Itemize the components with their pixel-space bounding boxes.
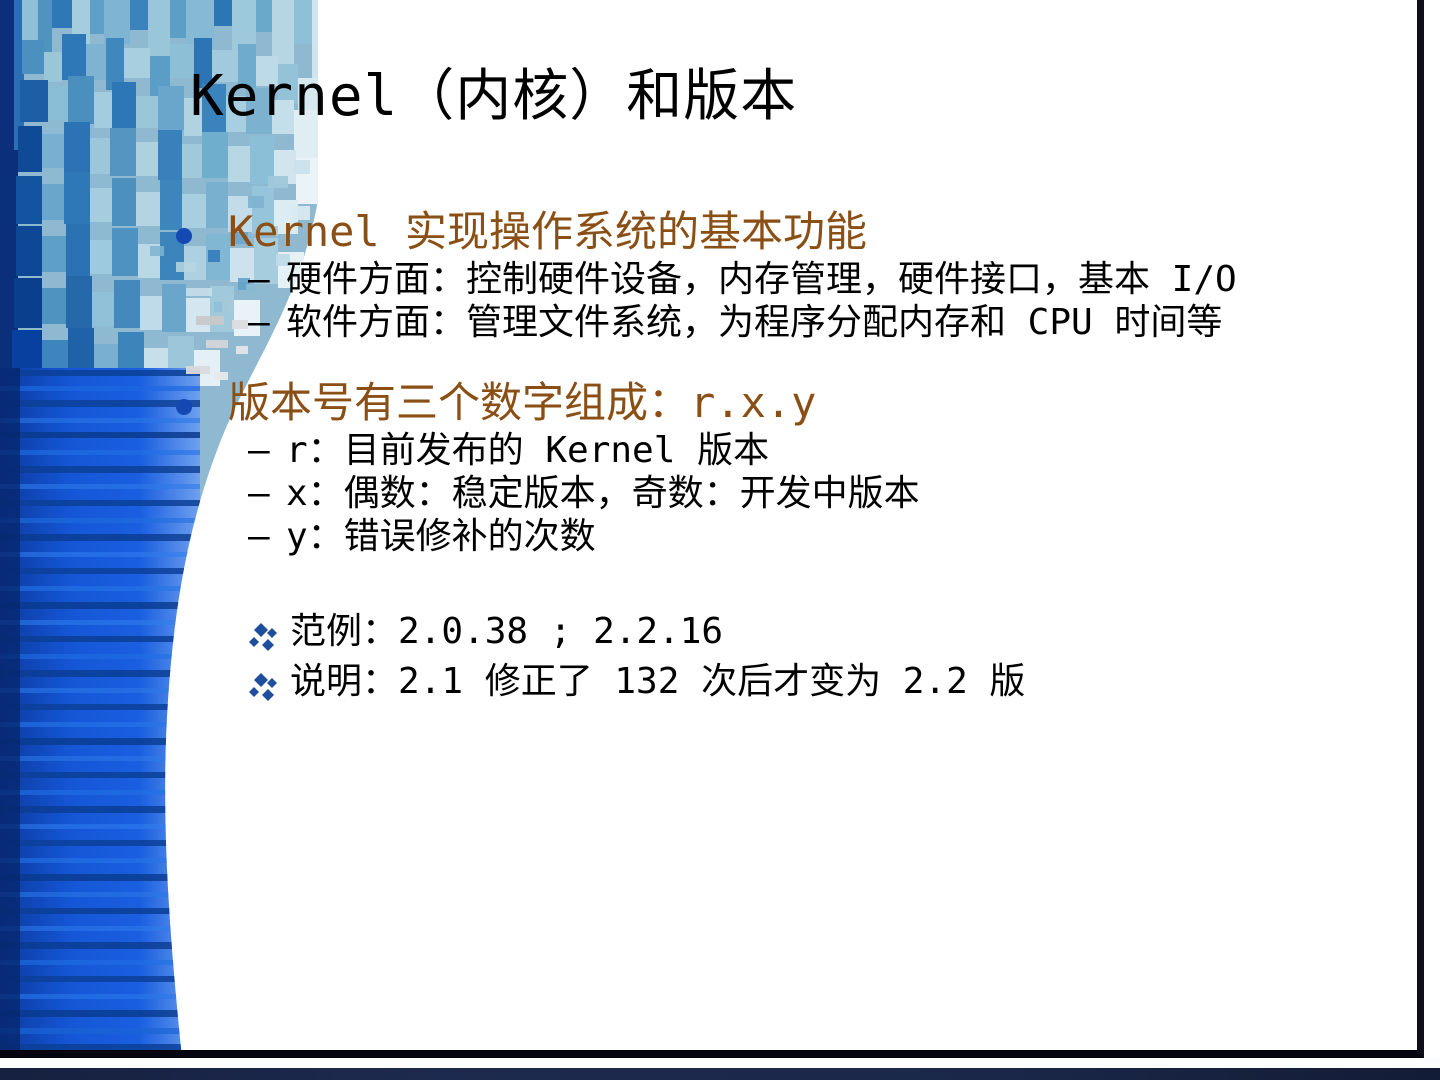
- bottom-status-strip: [0, 1068, 1440, 1080]
- slide-bottom-gap: [0, 1058, 1440, 1068]
- content-spacer: [0, 559, 1424, 611]
- dash-bullet-icon: –: [248, 516, 270, 557]
- slide-page: Kernel（内核）和版本 Kernel 实现操作系统的基本功能 – 硬件方面：…: [0, 0, 1424, 1058]
- dash-bullet-icon: –: [248, 259, 270, 300]
- dot-bullet-icon: [176, 228, 192, 244]
- bullet-level1-text: 版本号有三个数字组成：r.x.y: [228, 379, 816, 426]
- slide-root: Kernel（内核）和版本 Kernel 实现操作系统的基本功能 – 硬件方面：…: [0, 0, 1440, 1080]
- bullet-level2: – y：错误修补的次数: [248, 516, 1424, 557]
- bullet-level2-text: r：目前发布的 Kernel 版本: [286, 430, 769, 471]
- bullet-level2: – r：目前发布的 Kernel 版本: [248, 430, 1424, 471]
- dash-bullet-icon: –: [248, 302, 270, 343]
- bullet-level2: – 软件方面：管理文件系统，为程序分配内存和 CPU 时间等: [248, 302, 1424, 343]
- dash-bullet-icon: –: [248, 430, 270, 471]
- bullet-level3: 说明：2.1 修正了 132 次后才变为 2.2 版: [248, 661, 1424, 709]
- bullet-level2: – 硬件方面：控制硬件设备，内存管理，硬件接口，基本 I/O: [248, 259, 1424, 300]
- bullet-level3-text: 说明：2.1 修正了 132 次后才变为 2.2 版: [290, 661, 1025, 703]
- bullet-level2-text: y：错误修补的次数: [286, 516, 596, 557]
- bullet-level3: 范例：2.0.38 ; 2.2.16: [248, 611, 1424, 659]
- diamond-bullet-icon: [248, 669, 282, 709]
- bullet-level2-text: 硬件方面：控制硬件设备，内存管理，硬件接口，基本 I/O: [286, 259, 1237, 300]
- bullet-level2: – x：偶数：稳定版本，奇数：开发中版本: [248, 473, 1424, 514]
- bullet-level1: 版本号有三个数字组成：r.x.y: [176, 379, 1424, 426]
- bullet-level1-text: Kernel 实现操作系统的基本功能: [228, 208, 867, 255]
- bullet-level2-text: x：偶数：稳定版本，奇数：开发中版本: [286, 473, 920, 514]
- bullet-level2-text: 软件方面：管理文件系统，为程序分配内存和 CPU 时间等: [286, 302, 1222, 343]
- bullet-level3-text: 范例：2.0.38 ; 2.2.16: [290, 611, 723, 653]
- diamond-bullet-icon: [248, 619, 282, 659]
- slide-title: Kernel（内核）和版本: [190, 68, 797, 127]
- bullet-level1: Kernel 实现操作系统的基本功能: [176, 208, 1424, 255]
- dash-bullet-icon: –: [248, 473, 270, 514]
- content-spacer: [0, 345, 1424, 379]
- dot-bullet-icon: [176, 399, 192, 415]
- slide-content: Kernel 实现操作系统的基本功能 – 硬件方面：控制硬件设备，内存管理，硬件…: [0, 208, 1424, 1028]
